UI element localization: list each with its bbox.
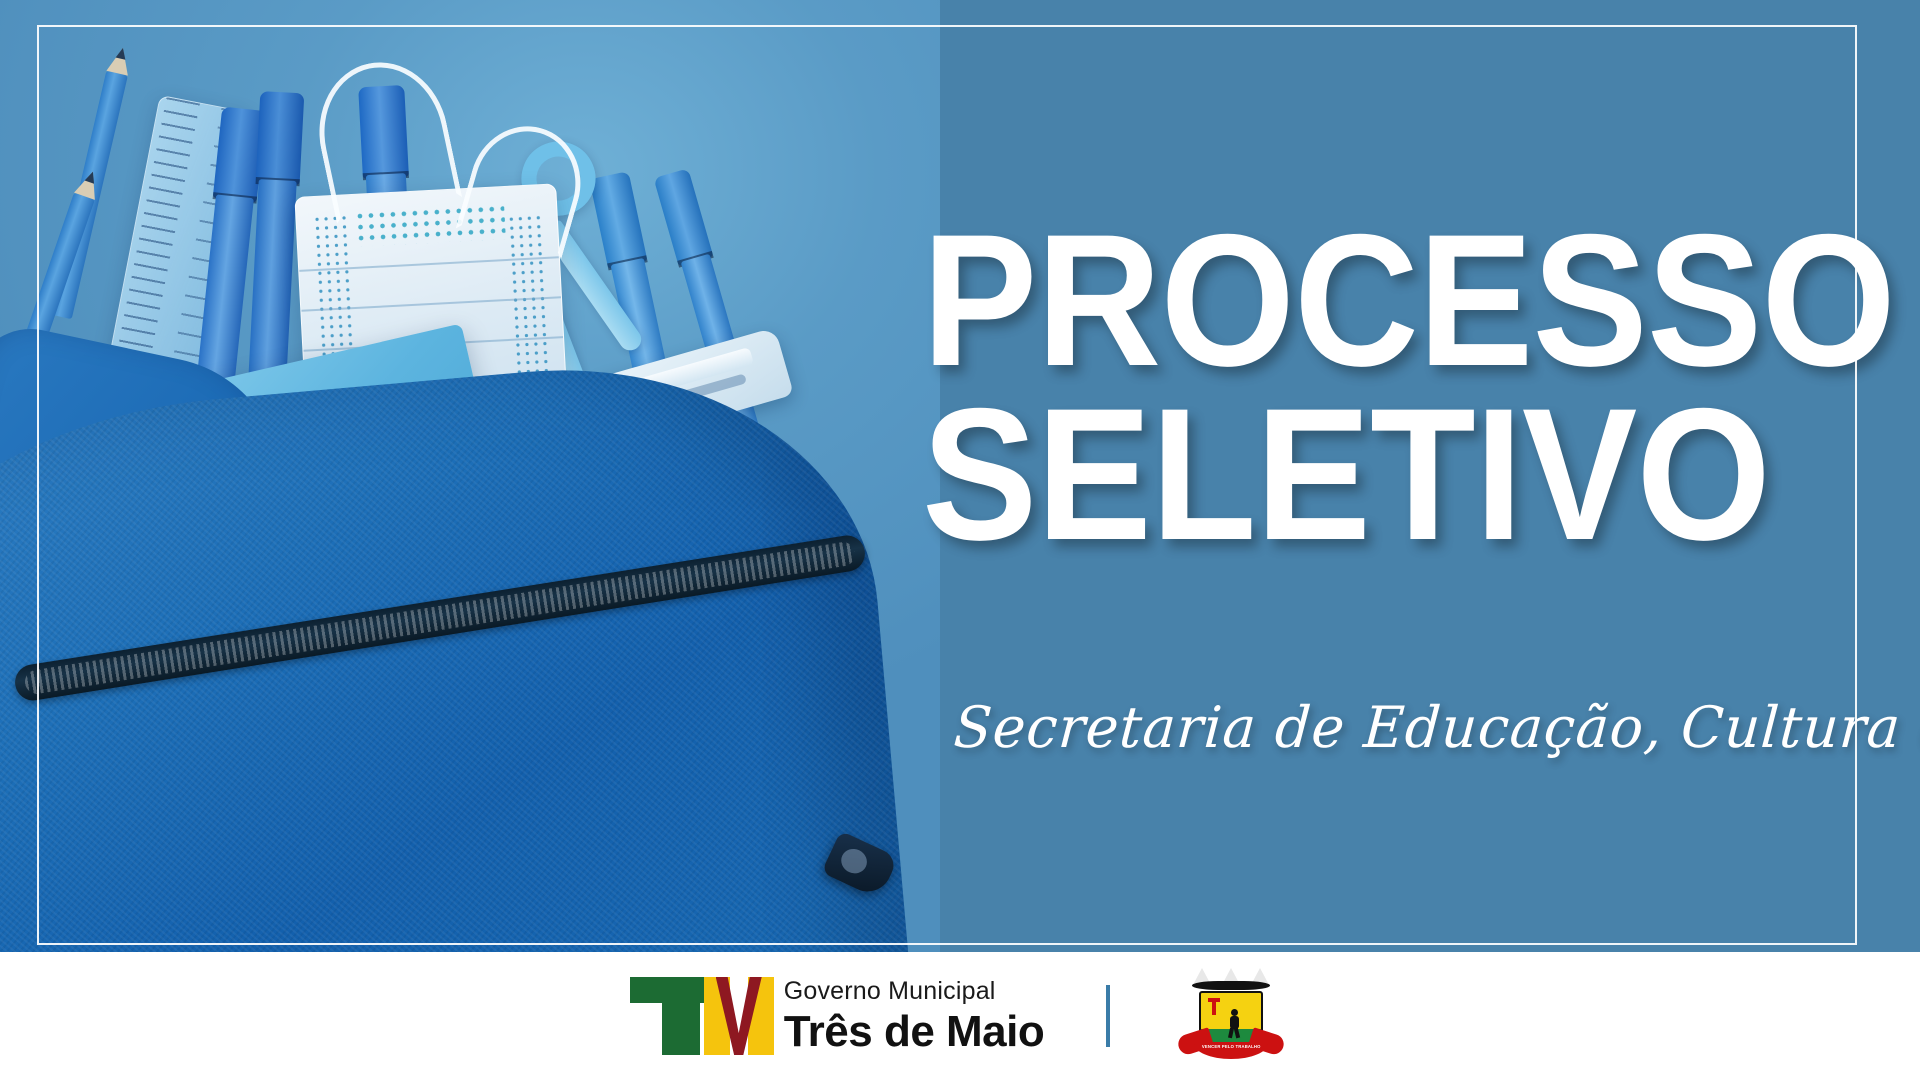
municipal-logo-text: Governo Municipal Três de Maio [784, 979, 1045, 1054]
tm-monogram-icon [630, 977, 758, 1055]
footer-divider [1106, 985, 1110, 1047]
title-line-1: PROCESSO [922, 214, 1824, 387]
headline-block: PROCESSO SELETIVO Secretaria de Educação… [940, 0, 1920, 952]
coat-of-arms-icon: 3 DE MAIO VENCER PELO TRABALHO [1172, 966, 1290, 1066]
motto-text: VENCER PELO TRABALHO [1178, 1044, 1284, 1049]
tau-cross-icon [1208, 998, 1220, 1015]
logo-line-2: Três de Maio [784, 1010, 1045, 1054]
subtitle: Secretaria de Educação, Cultura e Esport… [952, 700, 1906, 757]
logo-line-1: Governo Municipal [784, 979, 1045, 1004]
title-line-2: SELETIVO [922, 388, 1824, 561]
hero-banner: PROCESSO SELETIVO Secretaria de Educação… [0, 0, 1920, 952]
municipal-logo: Governo Municipal Três de Maio [630, 977, 1045, 1055]
poster: PROCESSO SELETIVO Secretaria de Educação… [0, 0, 1920, 1080]
motto-ribbon: VENCER PELO TRABALHO [1178, 1030, 1284, 1060]
school-supplies-photo [0, 0, 940, 952]
footer-bar: Governo Municipal Três de Maio [0, 952, 1920, 1080]
crown-icon [1192, 968, 1270, 990]
